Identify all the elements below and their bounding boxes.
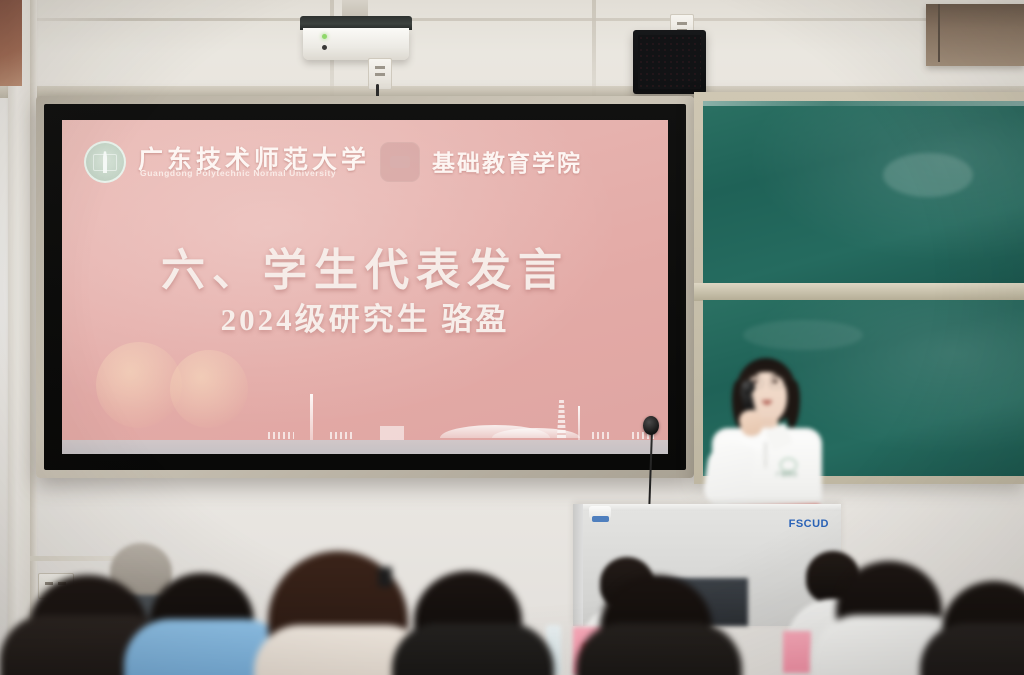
microphone-stand-head-icon: [643, 416, 659, 435]
skyline-building: [268, 432, 294, 439]
wall-upper-band: [0, 0, 1024, 96]
speaker-grille: [638, 35, 701, 89]
ceiling-line: [0, 18, 1024, 21]
shirt-logo-mark-icon: [780, 458, 797, 472]
chalkboard-center-rail: [694, 283, 1024, 301]
skyline-ground: [62, 440, 668, 454]
person-hair-right: [786, 380, 800, 428]
slide-subtitle: 2024级研究生 骆盈: [62, 294, 668, 339]
projection-screen[interactable]: 广东技术师范大学 Guangdong Polytechnic Normal Un…: [62, 120, 668, 454]
shirt-logo: 广技师大: [776, 458, 802, 478]
desk-object-blue[interactable]: [592, 516, 609, 522]
projector-sensor-dot: [322, 45, 327, 50]
college-seal-icon: [380, 142, 420, 182]
audience-body: [576, 623, 742, 675]
university-seal-icon: [84, 141, 126, 183]
chalkboard-sheen: [703, 101, 1024, 285]
wall-seam: [592, 0, 596, 96]
person-eye: [772, 380, 778, 383]
chalk-smudge: [743, 320, 863, 350]
skyline-needle: [578, 406, 580, 440]
person-shirt-placket: [764, 442, 767, 468]
slide-header: 广东技术师范大学 Guangdong Polytechnic Normal Un…: [84, 138, 650, 190]
wall-speaker: [633, 30, 706, 94]
name-card[interactable]: [783, 631, 811, 673]
blind-rod: [938, 4, 940, 62]
university-name-en: Guangdong Polytechnic Normal University: [140, 168, 336, 178]
audience-body: [392, 623, 554, 675]
classroom-scene: 广东技术师范大学 Guangdong Polytechnic Normal Un…: [0, 0, 1024, 675]
podium-left-side: [573, 504, 583, 626]
skyline-needle: [310, 394, 313, 440]
skyline-building: [592, 432, 612, 439]
podium-brand-label: FSCUD: [789, 518, 829, 530]
chalkboard-panel-top[interactable]: [703, 101, 1024, 285]
skyline-building: [380, 426, 404, 440]
person-glasses-icon: [769, 377, 784, 388]
shirt-logo-text: 广技师大: [776, 471, 798, 478]
projector-power-led: [322, 34, 327, 39]
wall-outlet-icon[interactable]: [368, 58, 392, 90]
person-arm: [702, 441, 756, 509]
chalk-smudge: [883, 153, 973, 197]
skyline-graphic: [62, 394, 668, 454]
podium-top-surface: [573, 504, 841, 511]
college-name-cn: 基础教育学院: [432, 144, 582, 178]
projector-body: [303, 28, 409, 60]
slide-title: 六、学生代表发言: [62, 234, 668, 298]
skyline-building: [330, 432, 352, 439]
chalkboard-top-edge: [703, 101, 1024, 106]
window-blind[interactable]: [926, 4, 1024, 66]
smartphone-icon[interactable]: [378, 567, 392, 587]
corner-trim: [0, 0, 22, 86]
projector: [300, 0, 412, 62]
speaker-person: 广技师大: [700, 358, 832, 518]
